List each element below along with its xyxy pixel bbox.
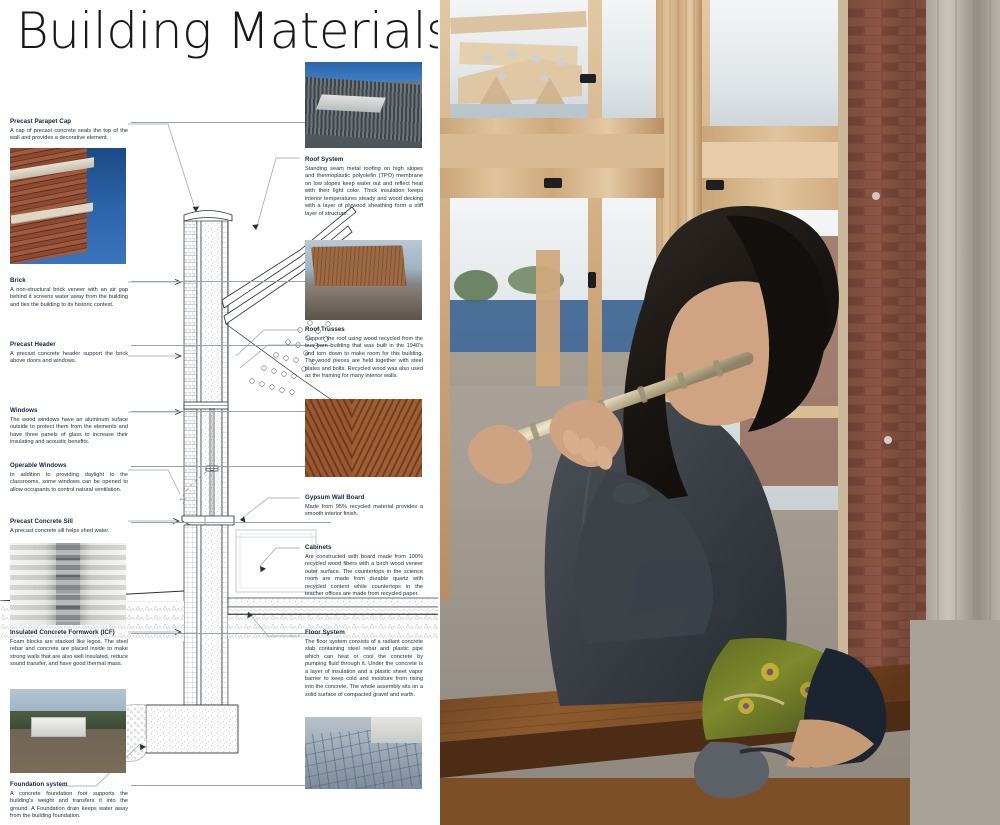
- callout-roof-trusses: Roof Trusses Support the roof using wood…: [305, 326, 423, 381]
- callout-roof-system: Roof System Standing seam metal roofing …: [305, 156, 423, 219]
- callout-insulated-concrete-formwork: Insulated Concrete Formwork (ICF) Foam b…: [10, 629, 128, 669]
- photo-radiant-floor: [305, 717, 422, 789]
- callout-body: The wood windows have an aluminum suface…: [10, 417, 128, 447]
- callout-body: The floor system consists of a radiant c…: [305, 639, 423, 700]
- callout-heading: Brick: [10, 277, 128, 285]
- callout-body: In addition to providing daylight to the…: [10, 472, 128, 495]
- callout-heading: Roof Trusses: [305, 326, 423, 334]
- callout-foundation-system: Foundation system A concrete foundation …: [10, 781, 128, 821]
- callout-heading: Cabinets: [305, 544, 423, 552]
- callout-operable-windows: Operable Windows In addition to providin…: [10, 462, 128, 494]
- photo-flute-student: [440, 0, 1000, 825]
- callout-body: A precast concrete sill helps shed water…: [10, 528, 128, 536]
- photo-truss-interior: [305, 399, 422, 477]
- callout-heading: Precast Parapet Cap: [10, 118, 128, 126]
- callout-body: Made from 95% recycled material provides…: [305, 504, 423, 519]
- callout-body: A precast concrete header support the br…: [10, 351, 128, 366]
- callout-heading: Windows: [10, 407, 128, 415]
- photo-foundation-site: [10, 689, 126, 773]
- callout-precast-header: Precast Header A precast concrete header…: [10, 341, 128, 366]
- callout-heading: Floor System: [305, 629, 423, 637]
- callout-body: Support the roof using wood recycled fro…: [305, 336, 423, 382]
- callout-cabinets: Cabinets Are constructed with board made…: [305, 544, 423, 599]
- callout-body: Standing seam metal roofing on high slop…: [305, 166, 423, 219]
- callout-gypsum-wall-board: Gypsum Wall Board Made from 95% recycled…: [305, 494, 423, 519]
- callout-heading: Foundation system: [10, 781, 128, 789]
- callout-heading: Operable Windows: [10, 462, 128, 470]
- callout-precast-parapet-cap: Precast Parapet Cap A cap of precast con…: [10, 118, 128, 143]
- callout-heading: Precast Header: [10, 341, 128, 349]
- callout-windows: Windows The wood windows have an aluminu…: [10, 407, 128, 447]
- callout-heading: Gypsum Wall Board: [305, 494, 423, 502]
- callout-body: Are constructed with board made from 100…: [305, 554, 423, 600]
- photo-barn-exterior: [305, 240, 422, 320]
- callout-body: Foam blocks are stacked like legos. The …: [10, 639, 128, 669]
- callout-heading: Insulated Concrete Formwork (ICF): [10, 629, 128, 637]
- photo-roof-workers: [305, 62, 422, 148]
- callout-precast-concrete-sill: Precast Concrete Sill A precast concrete…: [10, 518, 128, 535]
- callout-body: A cap of precast concrete seals the top …: [10, 128, 128, 143]
- callout-heading: Precast Concrete Sill: [10, 518, 128, 526]
- poster-canvas: Building Materials: [0, 0, 1000, 825]
- callout-heading: Roof System: [305, 156, 423, 164]
- callout-body: A concrete foundation foot supports the …: [10, 791, 128, 821]
- page-title: Building Materials: [16, 2, 438, 60]
- callout-floor-system: Floor System The floor system consists o…: [305, 629, 423, 699]
- diagram-panel: Building Materials: [0, 0, 438, 825]
- callout-brick: Brick A non-structural brick veneer with…: [10, 277, 128, 309]
- callout-body: A non-structural brick veneer with an ai…: [10, 287, 128, 310]
- photo-icf-rebar: [10, 543, 126, 625]
- photo-parapet-brick: [10, 148, 126, 264]
